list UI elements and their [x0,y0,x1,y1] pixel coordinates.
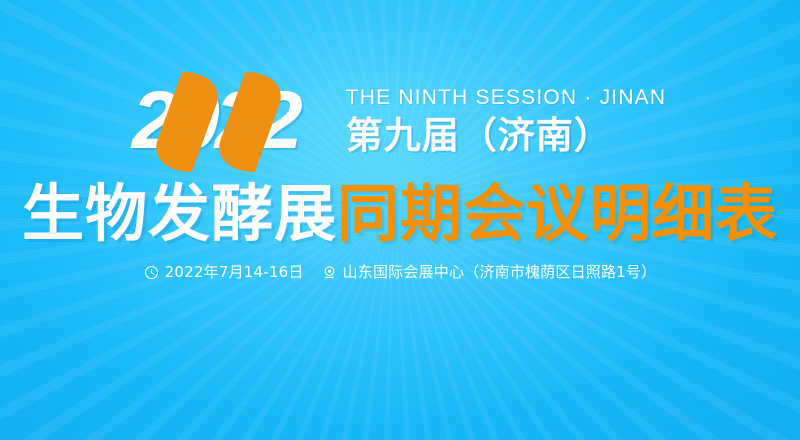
event-date-text: 2022年7月14-16日 [165,261,304,283]
event-banner: 2022 THE NINTH SESSION · JINAN 第九届（济南） 生… [0,0,800,440]
english-session-label: THE NINTH SESSION · JINAN [346,86,667,110]
event-venue-text: 山东国际会展中心（济南市槐荫区日照路1号） [343,261,657,283]
event-meta: 2022年7月14-16日 山东国际会展中心（济南市槐荫区日照路1号） [0,261,800,283]
event-venue: 山东国际会展中心（济南市槐荫区日照路1号） [322,261,657,283]
banner-content: 2022 THE NINTH SESSION · JINAN 第九届（济南） 生… [0,0,800,440]
session-text-block: THE NINTH SESSION · JINAN 第九届（济南） [346,82,667,160]
clock-icon [144,265,159,280]
year-graphic: 2022 [134,82,332,160]
year-lockup: 2022 THE NINTH SESSION · JINAN 第九届（济南） [0,82,800,160]
location-pin-icon [322,265,337,280]
page-title-part-white: 生物发酵展 [22,177,337,250]
page-title-part-orange: 同期会议明细表 [337,177,778,250]
event-date: 2022年7月14-16日 [144,261,304,283]
page-title: 生物发酵展同期会议明细表 [0,179,800,249]
chinese-session-label: 第九届（济南） [346,112,667,160]
